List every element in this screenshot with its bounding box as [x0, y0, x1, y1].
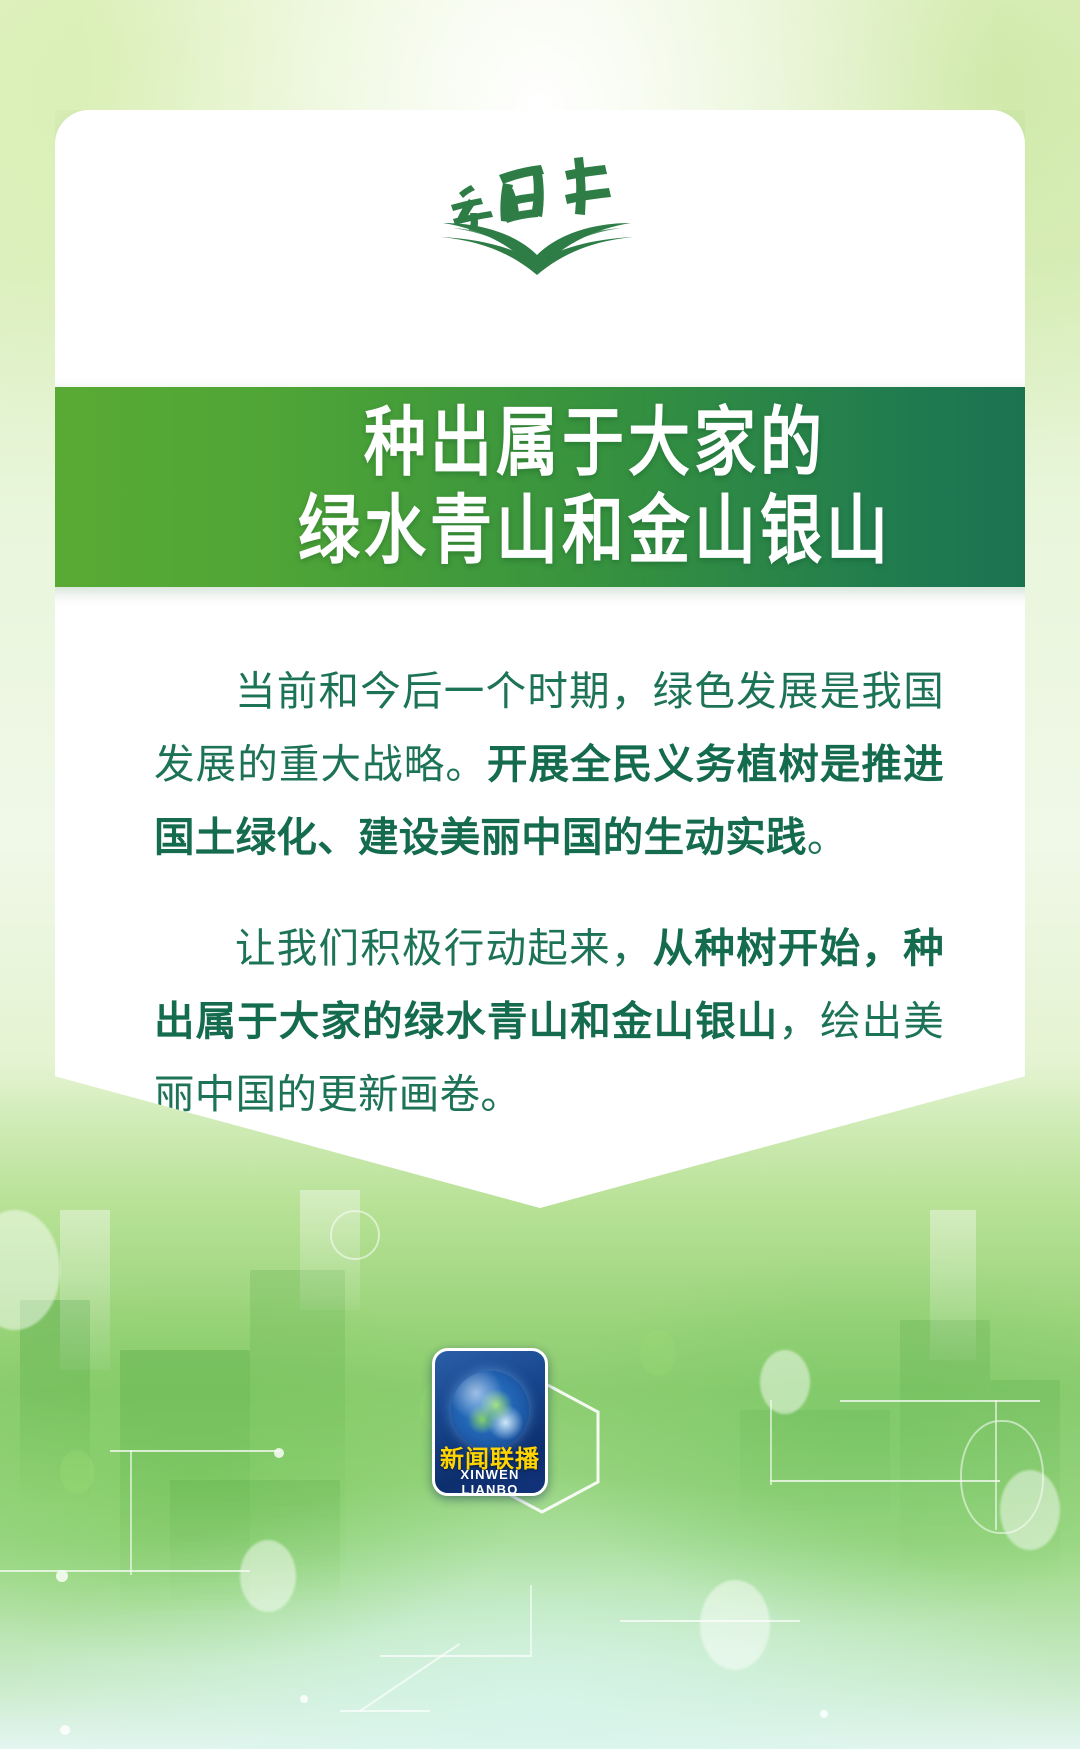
xinwen-lianbo-badge[interactable]: 新闻联播 XINWEN LIANBO	[432, 1348, 548, 1496]
open-book-icon	[425, 149, 655, 275]
badge-en-label: XINWEN LIANBO	[435, 1467, 545, 1496]
quote-p1-part-3: 。	[807, 813, 848, 861]
study-card-logo	[55, 146, 1025, 278]
quote-paragraph-2: 让我们积极行动起来，从种树开始，种出属于大家的绿水青山和金山银山，绘出美丽中国的…	[154, 912, 944, 1131]
title-banner: 种出属于大家的 绿水青山和金山银山	[20, 387, 1080, 587]
earth-globe-icon	[451, 1371, 529, 1449]
title-line-2: 绿水青山和金山银山	[298, 477, 892, 584]
badge-panel[interactable]: 新闻联播 XINWEN LIANBO	[432, 1348, 548, 1496]
content-card: 种出属于大家的 绿水青山和金山银山 当前和今后一个时期，绿色发展是我国发展的重大…	[55, 110, 1025, 1208]
quote-p2-part-1: 让我们积极行动起来，	[235, 924, 653, 972]
poster-root: 种出属于大家的 绿水青山和金山银山 当前和今后一个时期，绿色发展是我国发展的重大…	[0, 0, 1080, 1749]
quote-body: 当前和今后一个时期，绿色发展是我国发展的重大战略。开展全民义务植树是推进国土绿化…	[154, 655, 944, 1169]
quote-paragraph-1: 当前和今后一个时期，绿色发展是我国发展的重大战略。开展全民义务植树是推进国土绿化…	[154, 655, 944, 874]
